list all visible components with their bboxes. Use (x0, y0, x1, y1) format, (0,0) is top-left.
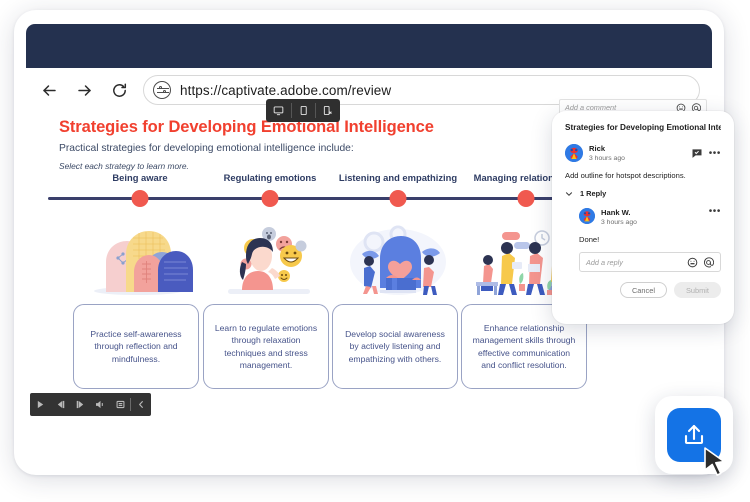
timeline-hotspot-4[interactable] (518, 190, 535, 207)
comment-panel-title: Strategies for Developing Emotional Inte… (565, 123, 721, 132)
comment-timestamp: 3 hours ago (589, 154, 686, 164)
brain-heart-people-icon (336, 220, 461, 298)
strategy-card-1-text: Practice self-awareness through reflecti… (82, 328, 190, 365)
submit-button[interactable]: Submit (674, 282, 721, 298)
comment-meta: Rick 3 hours ago (589, 144, 686, 163)
reply-actions: ••• (709, 208, 721, 215)
chevron-down-icon (565, 190, 573, 198)
device-tablet-button[interactable] (291, 99, 316, 122)
timeline-label-2: Regulating emotions (224, 172, 317, 183)
replies-count-label: 1 Reply (580, 189, 606, 198)
reply-author: Hank W. (601, 208, 703, 218)
reload-icon[interactable] (108, 79, 130, 101)
heads-profiles-icon (76, 220, 201, 298)
reply-header: Hank W. 3 hours ago ••• (579, 208, 721, 227)
timeline-track (48, 197, 576, 200)
comment-header: Rick 3 hours ago ••• (565, 144, 721, 163)
add-reply-input[interactable]: Add a reply (586, 258, 682, 267)
mention-icon[interactable] (703, 257, 714, 268)
rewind-button[interactable] (50, 393, 70, 416)
device-mobile-button[interactable] (315, 99, 340, 122)
site-settings-icon[interactable] (153, 81, 171, 99)
reply-item: Hank W. 3 hours ago ••• Done! (579, 208, 721, 244)
strategy-card-4-text: Enhance relationship management skills t… (470, 322, 578, 372)
reply-more-icon[interactable]: ••• (709, 209, 721, 215)
woman-emoji-bubbles-icon (206, 220, 331, 298)
reply-meta: Hank W. 3 hours ago (601, 208, 703, 227)
screenshot-root: https://captivate.adobe.com/review Strat… (0, 0, 750, 502)
timeline-label-3: Listening and empathizing (339, 172, 457, 183)
browser-titlebar (26, 24, 712, 68)
slide-hint: Select each strategy to learn more. (59, 161, 189, 171)
comment-actions: ••• (692, 144, 721, 163)
timeline-labels: Being aware Regulating emotions Listenin… (48, 172, 608, 188)
timeline-hotspot-1[interactable] (132, 190, 149, 207)
strategy-card-1[interactable]: Practice self-awareness through reflecti… (73, 304, 199, 389)
forward-button[interactable] (70, 393, 90, 416)
cancel-button[interactable]: Cancel (620, 282, 667, 298)
strategy-card-3[interactable]: Develop social awareness by actively lis… (332, 304, 458, 389)
slide-subtitle: Practical strategies for developing emot… (59, 143, 354, 154)
comment-panel: Strategies for Developing Emotional Inte… (552, 111, 734, 324)
page-title: Strategies for Developing Emotional Inte… (59, 118, 434, 137)
comment-author: Rick (589, 144, 686, 154)
device-desktop-button[interactable] (266, 99, 291, 122)
resolve-icon[interactable] (692, 145, 702, 163)
reply-timestamp: 3 hours ago (601, 218, 703, 228)
playback-controls (30, 393, 151, 416)
comment-button-row: Cancel Submit (565, 282, 721, 298)
timeline-label-1: Being aware (112, 172, 167, 183)
reply-body: Done! (579, 235, 721, 244)
device-preview-switcher (266, 99, 340, 122)
timeline-hotspot-3[interactable] (390, 190, 407, 207)
closed-caption-button[interactable] (110, 393, 130, 416)
timeline-hotspot-2[interactable] (262, 190, 279, 207)
forward-icon[interactable] (73, 79, 95, 101)
volume-button[interactable] (90, 393, 110, 416)
avatar (579, 208, 595, 224)
back-icon[interactable] (38, 79, 60, 101)
emoji-icon[interactable] (687, 257, 698, 268)
add-reply-bar[interactable]: Add a reply (579, 252, 721, 272)
avatar (565, 144, 583, 162)
address-bar-value: https://captivate.adobe.com/review (180, 83, 391, 98)
play-button[interactable] (30, 393, 50, 416)
strategy-card-2[interactable]: Learn to regulate emotions through relax… (203, 304, 329, 389)
strategy-card-3-text: Develop social awareness by actively lis… (341, 328, 449, 365)
collapse-button[interactable] (131, 393, 151, 416)
replies-toggle[interactable]: 1 Reply (565, 189, 721, 198)
strategy-card-2-text: Learn to regulate emotions through relax… (212, 322, 320, 372)
comment-body: Add outline for hotspot descriptions. (565, 171, 721, 180)
share-widget (655, 396, 733, 474)
comment-more-icon[interactable]: ••• (709, 151, 721, 157)
upload-button[interactable] (667, 408, 721, 462)
